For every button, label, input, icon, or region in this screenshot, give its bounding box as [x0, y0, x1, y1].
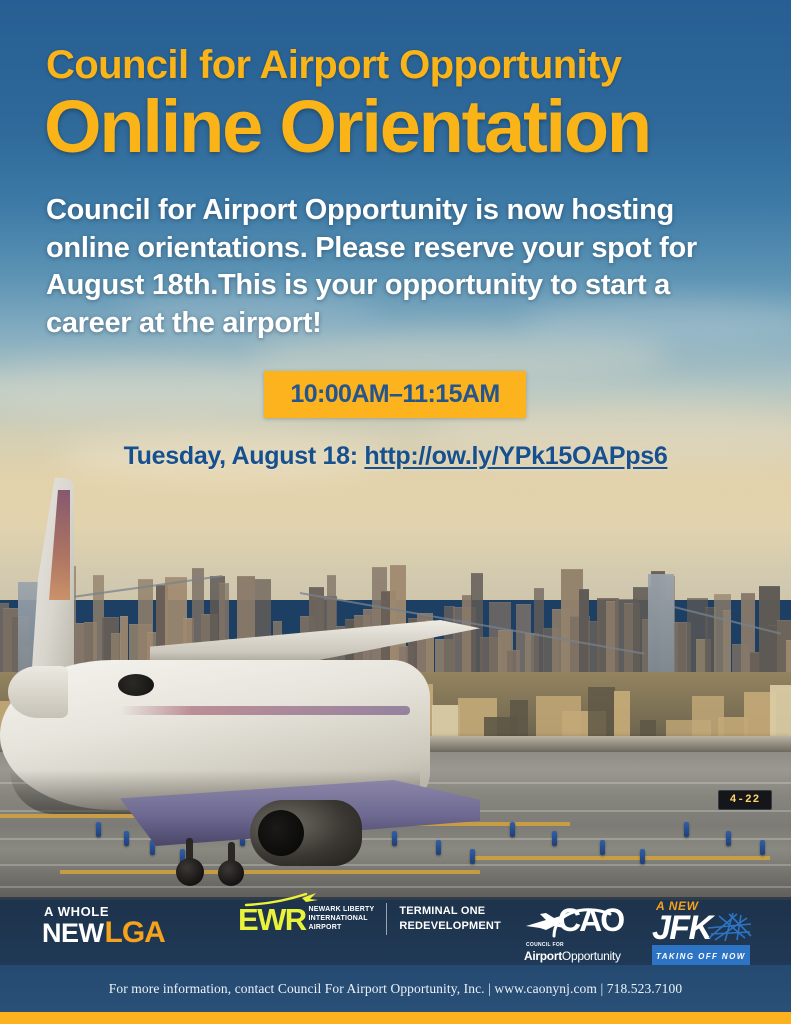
ewr-sub-line2: INTERNATIONAL — [309, 915, 375, 924]
cao-sub-regular: Opportunity — [562, 949, 621, 963]
jfk-runway-lines-icon — [707, 912, 753, 942]
title-kicker: Council for Airport Opportunity — [46, 44, 621, 86]
jfk-code: JFK — [652, 913, 711, 944]
date-and-link-line: Tuesday, August 18: http://ow.ly/YPk15OA… — [0, 442, 791, 471]
logo-lga: A WHOLE NEW LGA — [42, 905, 165, 948]
cao-letters: CAO — [558, 904, 623, 936]
flyer-content: Council for Airport Opportunity Online O… — [0, 0, 791, 1024]
ewr-divider — [386, 903, 387, 935]
ewr-code: EWR — [238, 904, 306, 935]
jfk-banner-label: TAKING OFF NOW — [656, 952, 746, 961]
jfk-banner: TAKING OFF NOW — [652, 945, 750, 965]
cao-sub-bold: Airport — [524, 949, 562, 963]
ewr-plane-swoosh-icon — [244, 893, 322, 907]
body-paragraph: Council for Airport Opportunity is now h… — [46, 192, 726, 343]
ewr-terminal-line2: REDEVELOPMENT — [399, 919, 501, 934]
time-badge-label: 10:00AM–11:15AM — [290, 380, 499, 409]
lga-new: NEW — [42, 920, 104, 947]
page-title: Online Orientation — [44, 90, 650, 164]
bottom-accent-bar — [0, 1012, 791, 1024]
time-badge: 10:00AM–11:15AM — [264, 371, 526, 418]
flyer-canvas: 4-22 Council for Airport Opportunity Onl… — [0, 0, 791, 1024]
footer-bar: For more information, contact Council Fo… — [0, 965, 791, 1012]
ewr-sub-line1: NEWARK LIBERTY — [309, 906, 375, 915]
logo-cao: CAO COUNCIL FOR AirportOpportunity — [524, 902, 628, 964]
registration-link[interactable]: http://ow.ly/YPk15OAPps6 — [364, 442, 667, 470]
lga-code: LGA — [105, 918, 165, 948]
ewr-terminal-line1: TERMINAL ONE — [399, 904, 501, 919]
date-label: Tuesday, August 18: — [124, 442, 365, 470]
logo-ewr: EWR NEWARK LIBERTY INTERNATIONAL AIRPORT… — [238, 903, 501, 935]
cao-sub-tiny: COUNCIL FOR — [526, 943, 628, 948]
ewr-sub-line3: AIRPORT — [309, 924, 375, 933]
logo-jfk: A NEW JFK TAKING OFF NOW — [652, 900, 764, 965]
footer-contact-text: For more information, contact Council Fo… — [109, 981, 682, 997]
